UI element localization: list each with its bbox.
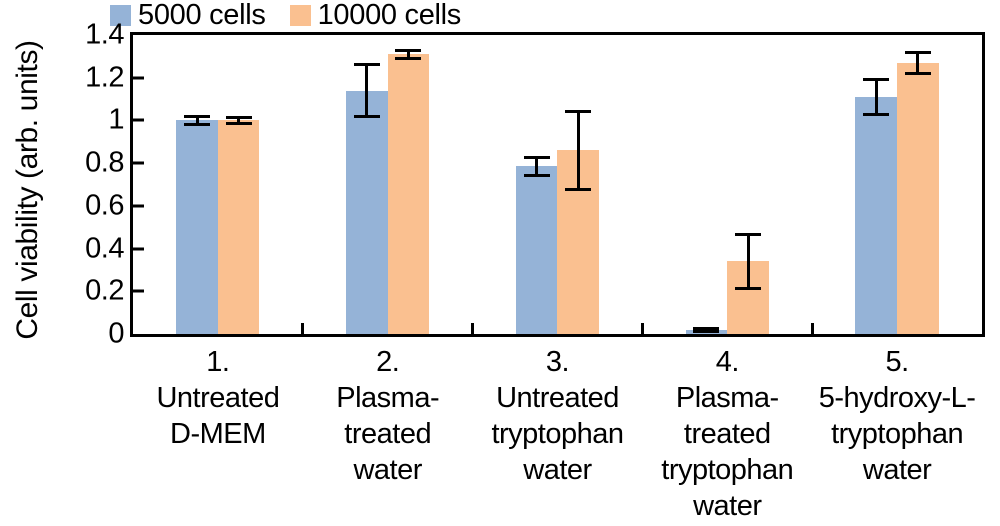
bar-group-1 [176, 35, 259, 334]
y-tick-label-6: 1.2 [40, 63, 124, 92]
y-tick-label-7: 1.4 [40, 21, 124, 50]
legend-label-0: 5000 cells [138, 1, 266, 30]
x-label-4-line-0: 4. [642, 344, 812, 380]
x-tick-mark-1 [301, 323, 304, 334]
x-label-1-line-2: D-MEM [133, 416, 303, 452]
x-label-3-line-3: water [473, 452, 643, 488]
error-bar-cap-top [395, 49, 421, 52]
x-tick-mark-4 [811, 323, 814, 334]
error-bar-stem [747, 233, 750, 291]
error-bar-cap-top [226, 116, 252, 119]
y-axis-tick-labels: 00.20.40.60.811.21.4 [40, 32, 124, 337]
legend-entry-0: 5000 cells [110, 1, 266, 30]
y-tick-mark-2 [133, 247, 144, 250]
error-bar-cap-top [565, 110, 591, 113]
error-bar-cap-bottom [693, 330, 719, 333]
error-bar-cap-top [735, 233, 761, 236]
legend-entry-1: 10000 cells [290, 1, 461, 30]
y-tick-label-3: 0.6 [40, 191, 124, 220]
error-bar-cap-top [524, 156, 550, 159]
error-bar-cap-bottom [354, 115, 380, 118]
error-bar-stem [577, 110, 580, 191]
x-label-5: 5.5-hydroxy-L-tryptophanwater [812, 344, 982, 488]
error-bar-cap-bottom [565, 188, 591, 191]
x-label-3: 3.Untreatedtryptophanwater [473, 344, 643, 488]
x-label-2-line-1: Plasma- [303, 380, 473, 416]
bar-2-10000-cells [388, 54, 430, 334]
y-tick-mark-6 [133, 76, 144, 79]
error-bar-stem [875, 78, 878, 116]
x-label-1-line-1: Untreated [133, 380, 303, 416]
x-label-5-line-1: 5-hydroxy-L- [812, 380, 982, 416]
y-tick-mark-1 [133, 290, 144, 293]
legend-label-1: 10000 cells [318, 1, 461, 30]
x-label-3-line-0: 3. [473, 344, 643, 380]
bar-group-3 [516, 35, 599, 334]
error-bar-cap-top [905, 51, 931, 54]
bar-chart-figure: 5000 cells10000 cells Cell viability (ar… [0, 0, 1000, 526]
x-tick-mark-2 [471, 323, 474, 334]
bar-group-4 [686, 35, 769, 334]
x-label-4: 4.Plasma-treatedtryptophanwater [642, 344, 812, 524]
y-tick-label-5: 1 [40, 106, 124, 135]
error-bar-cap-top [184, 115, 210, 118]
x-label-4-line-3: tryptophan [642, 452, 812, 488]
bar-5-5000-cells [855, 97, 897, 334]
error-bar-cap-bottom [226, 122, 252, 125]
error-bar-cap-top [863, 78, 889, 81]
bar-group-5 [855, 35, 938, 334]
bar-1-10000-cells [218, 120, 260, 334]
y-tick-mark-5 [133, 119, 144, 122]
x-label-5-line-0: 5. [812, 344, 982, 380]
x-label-4-line-2: treated [642, 416, 812, 452]
x-label-2: 2.Plasma-treatedwater [303, 344, 473, 488]
x-label-4-line-4: water [642, 488, 812, 524]
error-bar-cap-bottom [863, 113, 889, 116]
x-label-1-line-0: 1. [133, 344, 303, 380]
y-tick-label-2: 0.4 [40, 234, 124, 263]
y-tick-label-1: 0.2 [40, 277, 124, 306]
bar-2-5000-cells [346, 91, 388, 334]
x-label-5-line-3: water [812, 452, 982, 488]
y-tick-mark-4 [133, 162, 144, 165]
x-label-1: 1.UntreatedD-MEM [133, 344, 303, 452]
bar-1-5000-cells [176, 120, 218, 334]
x-axis-category-labels: 1.UntreatedD-MEM2.Plasma-treatedwater3.U… [130, 344, 985, 524]
x-label-2-line-2: treated [303, 416, 473, 452]
plot-area [130, 32, 985, 337]
x-tick-mark-3 [641, 323, 644, 334]
error-bar-cap-bottom [735, 287, 761, 290]
error-bar-cap-top [354, 63, 380, 66]
error-bar-cap-bottom [524, 174, 550, 177]
bar-5-10000-cells [897, 63, 939, 334]
bar-group-2 [346, 35, 429, 334]
x-label-3-line-1: Untreated [473, 380, 643, 416]
y-tick-label-4: 0.8 [40, 149, 124, 178]
error-bar-cap-bottom [184, 123, 210, 126]
y-tick-label-0: 0 [40, 320, 124, 349]
x-label-3-line-2: tryptophan [473, 416, 643, 452]
x-label-2-line-0: 2. [303, 344, 473, 380]
error-bar-stem [365, 63, 368, 119]
error-bar-cap-bottom [395, 57, 421, 60]
plot-inner [133, 35, 982, 334]
chart-legend: 5000 cells10000 cells [110, 0, 461, 30]
x-label-5-line-2: tryptophan [812, 416, 982, 452]
y-tick-mark-3 [133, 204, 144, 207]
error-bar-cap-bottom [905, 72, 931, 75]
bar-3-5000-cells [516, 166, 558, 334]
x-label-4-line-1: Plasma- [642, 380, 812, 416]
y-axis-title: Cell viability (arb. units) [13, 20, 43, 360]
x-label-2-line-3: water [303, 452, 473, 488]
legend-swatch-icon-1 [290, 5, 311, 26]
